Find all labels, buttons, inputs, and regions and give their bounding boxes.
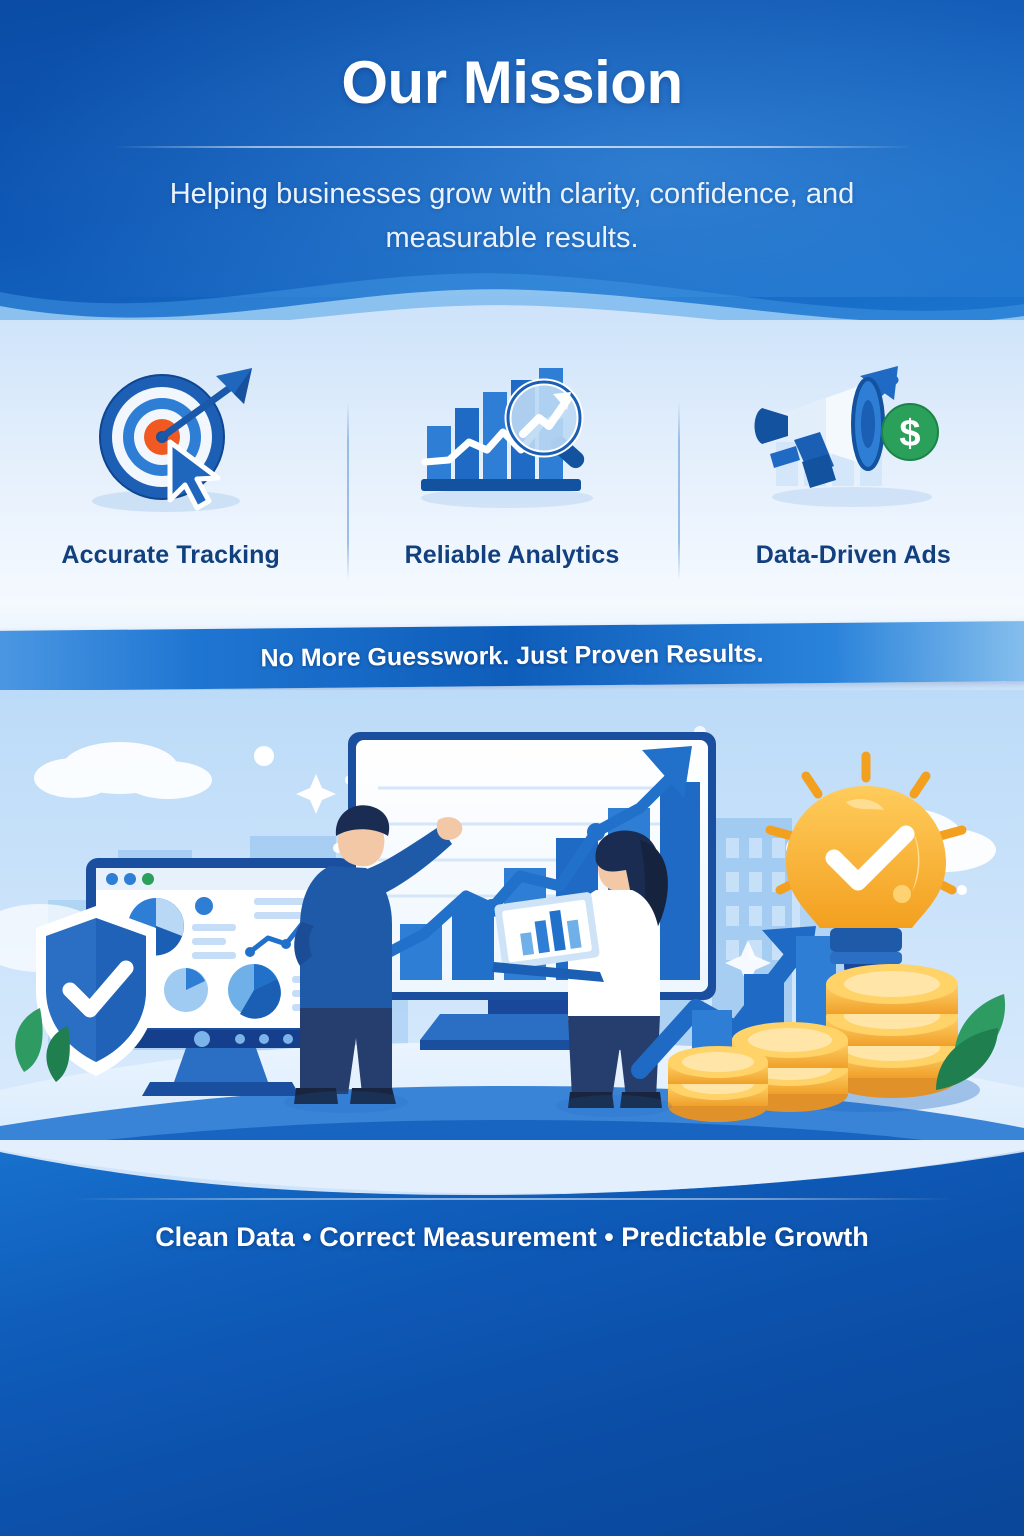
title-divider [112, 146, 912, 148]
feature-accurate-tracking[interactable]: Accurate Tracking [0, 340, 341, 605]
feature-label: Data-Driven Ads [756, 541, 951, 570]
feature-row: Accurate Tracking [0, 340, 1024, 605]
hero-illustration [0, 690, 1024, 1168]
target-cursor-icon [66, 358, 276, 523]
svg-text:$: $ [900, 413, 921, 455]
footer-wave [0, 1140, 1024, 1220]
page-subtitle: Helping businesses grow with clarity, co… [135, 172, 889, 260]
banner-strip: No More Guesswork. Just Proven Results. [0, 621, 1024, 691]
footer-tagline: Clean Data • Correct Measurement • Predi… [0, 1222, 1024, 1253]
features-section: Accurate Tracking [0, 320, 1024, 625]
feature-label: Reliable Analytics [405, 541, 620, 570]
feature-reliable-analytics[interactable]: Reliable Analytics [341, 340, 682, 605]
header-section: Our Mission Helping businesses grow with… [0, 0, 1024, 330]
page-title: Our Mission [0, 48, 1024, 117]
mission-poster: Our Mission Helping businesses grow with… [0, 0, 1024, 1536]
bar-chart-magnifier-icon [407, 358, 617, 523]
feature-label: Accurate Tracking [61, 541, 279, 570]
footer-divider [70, 1198, 954, 1200]
banner-section: No More Guesswork. Just Proven Results. [0, 600, 1024, 700]
feature-data-driven-ads[interactable]: $ Data-Driven Ads [683, 340, 1024, 605]
illustration-section [0, 690, 1024, 1168]
banner-text: No More Guesswork. Just Proven Results. [0, 621, 1024, 691]
megaphone-dollar-icon: $ [748, 358, 958, 523]
